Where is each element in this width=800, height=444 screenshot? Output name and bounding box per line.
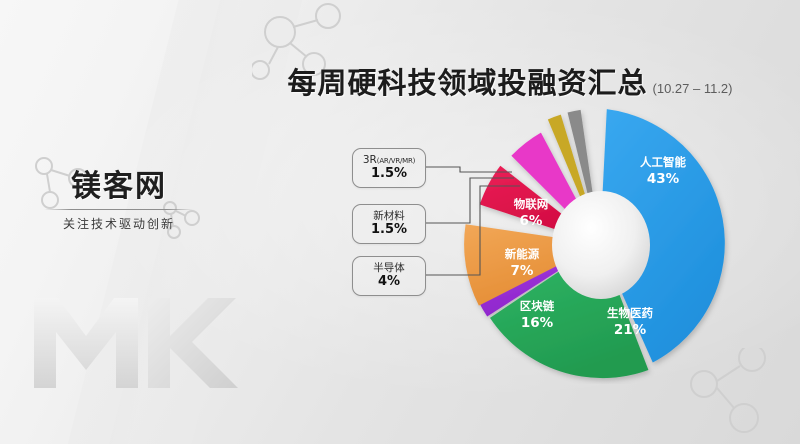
pie-label-ai-value: 43% <box>647 171 680 187</box>
pie-label-iot-name: 物联网 <box>514 197 549 211</box>
brand-name: 镁客网 <box>44 172 194 202</box>
brand-divider <box>44 209 194 210</box>
title-date-range: (10.27 – 11.2) <box>653 81 733 96</box>
brand-tagline: 关注技术驱动创新 <box>44 215 194 232</box>
callout-3r-label: 3R(AR/VR/MR) <box>363 155 415 166</box>
callout-semiconductor[interactable]: 半导体 4% <box>352 256 426 296</box>
pie-label-newenergy-value: 7% <box>511 263 534 279</box>
mk-watermark-logo <box>28 292 248 392</box>
pie-label-blockchain-name: 区块链 <box>520 299 555 313</box>
pie-label-bio-name: 生物医药 <box>607 306 653 320</box>
callout-3r[interactable]: 3R(AR/VR/MR) 1.5% <box>352 148 426 188</box>
callout-newmaterial-value: 1.5% <box>371 222 407 238</box>
callout-semiconductor-label: 半导体 <box>373 263 405 274</box>
poster-canvas: 镁客网 关注技术驱动创新 每周硬科技领域投融资汇总 (10.27 – 11.2) <box>0 0 800 444</box>
callout-newmaterial-label: 新材料 <box>373 211 405 222</box>
donut-hole <box>552 191 650 299</box>
pie-label-newenergy-name: 新能源 <box>505 247 540 261</box>
pie-label-blockchain-value: 16% <box>521 315 554 331</box>
title-text: 每周硬科技领域投融资汇总 <box>288 60 648 102</box>
pie-label-bio-value: 21% <box>614 322 647 338</box>
pie-label-iot-value: 6% <box>520 213 543 229</box>
callout-newmaterial[interactable]: 新材料 1.5% <box>352 204 426 244</box>
pie-label-ai-name: 人工智能 <box>640 155 686 169</box>
donut-chart: 人工智能 43% 生物医药 21% 区块链 16% 新能源 7% 物联网 6% <box>460 104 740 384</box>
page-title: 每周硬科技领域投融资汇总 (10.27 – 11.2) <box>250 60 770 106</box>
callout-semiconductor-value: 4% <box>378 274 400 290</box>
brand-block: 镁客网 关注技术驱动创新 <box>44 172 194 232</box>
callout-3r-value: 1.5% <box>371 166 407 182</box>
